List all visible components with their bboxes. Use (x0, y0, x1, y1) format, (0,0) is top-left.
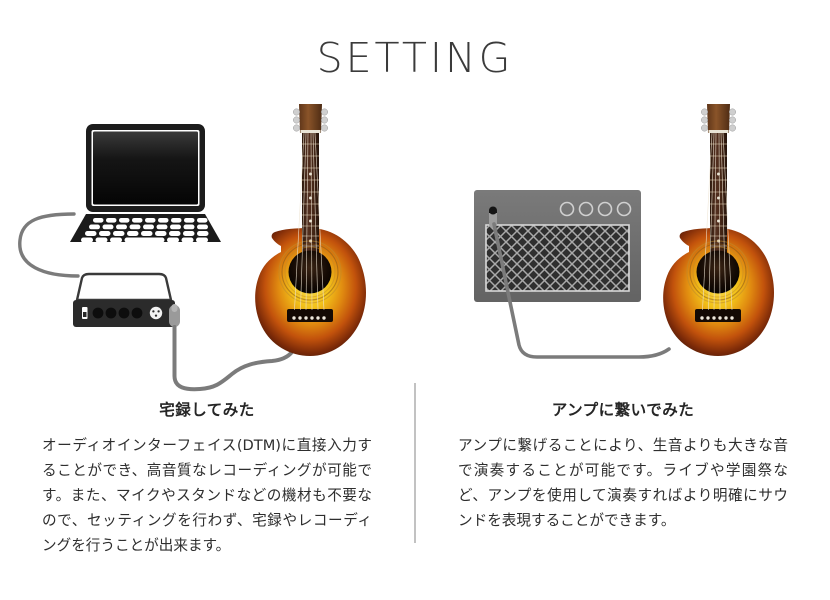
guitar-bridge-right (695, 309, 741, 322)
interface-xlr-jack (150, 307, 162, 319)
laptop (70, 124, 221, 243)
amp-cabinet (474, 190, 641, 302)
interface-output-jack (169, 304, 180, 327)
guitar-soundhole-left (289, 251, 332, 294)
laptop-screen-bezel (92, 130, 200, 206)
column-home-recording: 宅録してみた オーディオインターフェイス(DTM)に直接入力することができ、高音… (42, 398, 372, 558)
guitar-rosette-left (279, 241, 341, 303)
guitar-tuners-right (701, 109, 735, 131)
guitar-bridge-pins-left (292, 316, 325, 319)
column-heading-home-recording: 宅録してみた (42, 398, 372, 420)
guitar-strings-left (295, 133, 325, 310)
interface-power-switch (82, 307, 88, 319)
guitar-body-right (663, 228, 774, 356)
column-body-amp-connected: アンプに繋げることにより、生音よりも大きな音で演奏することが可能です。ライブや学… (458, 433, 788, 533)
guitar-inlays-right (717, 173, 720, 243)
audio-interface (73, 274, 180, 327)
page-title: SETTING (0, 34, 830, 82)
guitar-frets-right (710, 144, 727, 246)
laptop-lid (86, 124, 205, 212)
interface-knobs (93, 308, 143, 319)
guitar-bridge-left (287, 309, 333, 322)
laptop-spacebar (125, 238, 165, 243)
guitar-fretboard-right (710, 132, 727, 256)
cable-interface-to-guitar (175, 327, 293, 389)
guitar-nut-left (301, 130, 321, 133)
guitar-tuners-left (293, 109, 327, 131)
guitar-soundhole-right (697, 251, 740, 294)
guitar-frets-left (302, 144, 319, 246)
guitar-strings-right (703, 133, 733, 310)
column-amp-connected: アンプに繋いでみた アンプに繋げることにより、生音よりも大きな音で演奏することが… (458, 398, 788, 533)
column-heading-amp-connected: アンプに繋いでみた (458, 398, 788, 420)
guitar-body-left (255, 228, 366, 356)
interface-top (77, 274, 171, 300)
acoustic-guitar-left (255, 104, 366, 356)
guitar-fretboard-left (302, 132, 319, 256)
amp-knobs (561, 203, 631, 216)
laptop-screen (93, 132, 198, 205)
column-divider (414, 383, 416, 543)
acoustic-guitar-right (663, 104, 774, 356)
guitar-headstock-left (299, 104, 322, 133)
left-illustration (20, 104, 366, 389)
cable-laptop-to-interface (20, 214, 78, 276)
laptop-keys (81, 218, 209, 243)
amp-input-plug (489, 207, 497, 229)
interface-front-panel (73, 300, 175, 327)
guitar-amplifier (474, 190, 641, 302)
interface-switch-indicator (83, 312, 87, 317)
amp-grille (486, 225, 629, 291)
guitar-headstock-right (707, 104, 730, 133)
guitar-inlays-left (309, 173, 312, 243)
guitar-bridge-pins-right (700, 316, 733, 319)
right-illustration (474, 104, 774, 357)
cable-amp-to-guitar (494, 224, 669, 357)
guitar-rosette-right (687, 241, 749, 303)
guitar-nut-right (709, 130, 729, 133)
laptop-keyboard-base (70, 214, 221, 242)
column-body-home-recording: オーディオインターフェイス(DTM)に直接入力することができ、高音質なレコーディ… (42, 433, 372, 558)
poster-root: SETTING (0, 0, 830, 600)
